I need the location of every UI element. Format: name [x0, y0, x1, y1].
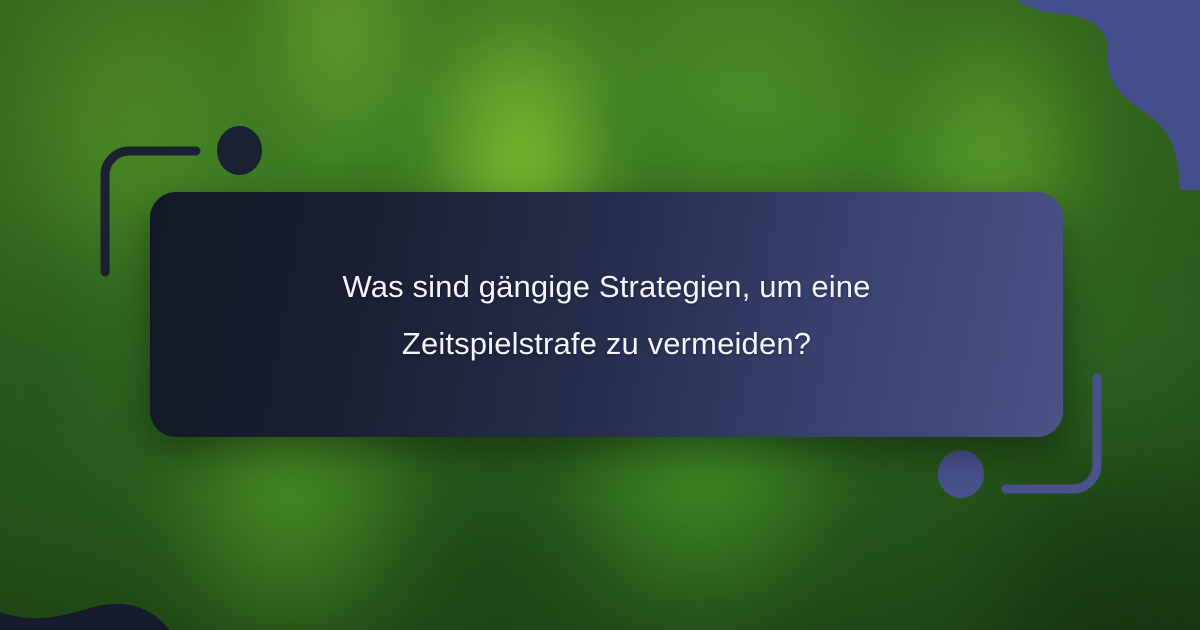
social-card-canvas: Was sind gängige Strategien, um eine Zei… [0, 0, 1200, 630]
question-card: Was sind gängige Strategien, um eine Zei… [150, 192, 1063, 437]
question-text: Was sind gängige Strategien, um eine Zei… [277, 258, 937, 372]
